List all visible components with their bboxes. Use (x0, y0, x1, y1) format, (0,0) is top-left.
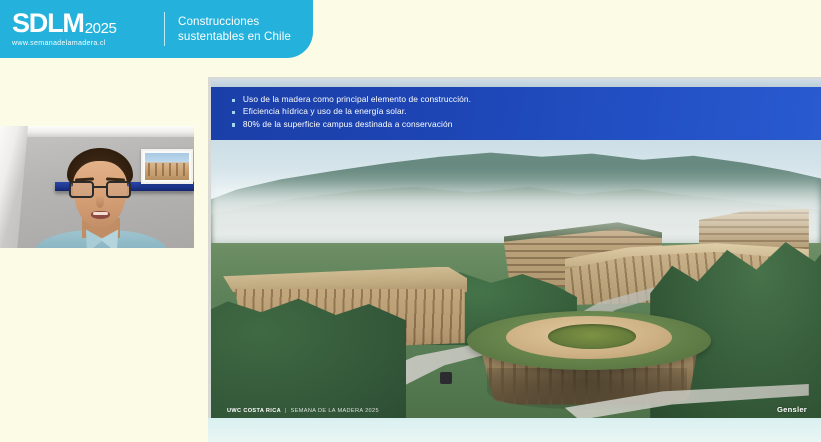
presenter-video-tile[interactable] (0, 126, 194, 248)
presentation-slide[interactable]: Uso de la madera como principal elemento… (208, 77, 821, 420)
bullet-text: Eficiencia hídrica y uso de la energía s… (243, 106, 407, 116)
slide-content: Uso de la madera como principal elemento… (211, 79, 821, 420)
eyeglass-bridge (94, 186, 106, 188)
slide-footer: UWC COSTA RICA | SEMANA DE LA MADERA 202… (211, 398, 821, 420)
wall-top-edge (0, 126, 194, 137)
header-title-line-2: sustentables en Chile (178, 29, 291, 44)
bullet-text: Uso de la madera como principal elemento… (243, 94, 471, 104)
slide-caption: UWC COSTA RICA | SEMANA DE LA MADERA 202… (227, 408, 379, 414)
logo-year-text: 2025 (85, 21, 117, 37)
eyeglasses-icon (68, 181, 132, 198)
architecture-firm-credit: Gensler (777, 405, 807, 414)
header-title-line-1: Construcciones (178, 14, 291, 29)
bullet-marker-icon (232, 111, 235, 114)
header-divider (164, 12, 165, 46)
presenter-figure (46, 148, 156, 248)
sdlm-logo: SDLM 2025 www.semanadelamadera.cl (12, 7, 158, 51)
bullet-item: 80% de la superficie campus destinada a … (232, 119, 821, 129)
caption-project-name: UWC COSTA RICA (227, 408, 281, 414)
caption-event-name: SEMANA DE LA MADERA 2025 (291, 408, 379, 414)
slide-bottom-band (208, 418, 821, 442)
logo-website-url: www.semanadelamadera.cl (12, 39, 158, 47)
logo-mark-text: SDLM (12, 11, 84, 37)
building-main-roof (223, 267, 467, 293)
bullet-marker-icon (232, 99, 235, 102)
bullet-item: Uso de la madera como principal elemento… (232, 94, 821, 104)
car-on-road (440, 372, 452, 384)
bullet-text: 80% de la superficie campus destinada a … (243, 119, 453, 129)
header-title: Construcciones sustentables en Chile (178, 14, 291, 45)
slide-bullet-box: Uso de la madera como principal elemento… (211, 87, 821, 140)
logo-wordmark-row: SDLM 2025 (12, 11, 158, 37)
webinar-screen: SDLM 2025 www.semanadelamadera.cl Constr… (0, 0, 821, 442)
eyeglass-lens-right (106, 181, 131, 198)
eyeglass-lens-left (69, 181, 94, 198)
presenter-mouth (91, 211, 110, 219)
circular-roof-garden (548, 324, 636, 349)
bullet-marker-icon (232, 123, 235, 126)
bullet-item: Eficiencia hídrica y uso de la energía s… (232, 106, 821, 116)
caption-separator: | (285, 408, 287, 414)
brand-header-band: SDLM 2025 www.semanadelamadera.cl Constr… (0, 0, 313, 58)
